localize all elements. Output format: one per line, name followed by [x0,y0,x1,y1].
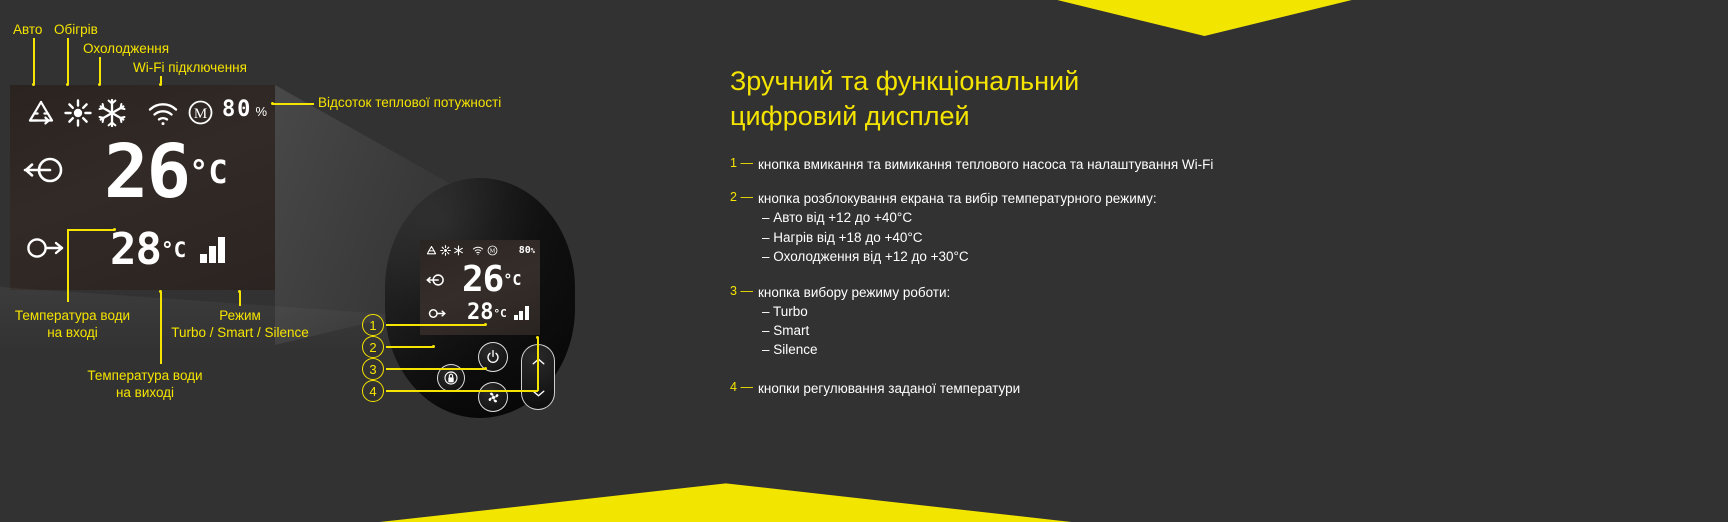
outlet-temp-unit: °C [161,238,186,262]
device-inlet-row: 26 °C [424,262,536,298]
legend-subitem: – Охолодження від +12 до +30°C [762,247,1430,266]
percent-number: 80 [222,97,253,122]
legend-subitem: – Нагрів від +18 до +40°C [762,228,1430,247]
callout-label-mode-line2: Turbo / Smart / Silence [165,325,315,342]
device-fan-bars-icon [514,306,529,320]
leader-line-auto [33,38,35,84]
callout-label-outlet-temp: Температура води на виході [80,368,210,402]
inlet-temperature-row: 26 °C [16,129,271,215]
device-lcd-display: M 80% 26 °C 28 °C [420,240,540,335]
leader-line-inlet-h [67,229,115,231]
leader-line-4v [537,338,539,391]
m-mode-icon: M [187,99,214,131]
inlet-temp-value: 26 [104,135,189,209]
leader-dot-cool [98,83,101,86]
callout-number-1: 1 [362,314,384,336]
wifi-icon-small [472,245,484,256]
chevron-decoration-top [910,0,1728,36]
leader-dot-4 [536,336,539,339]
leader-dot-heat [66,83,69,86]
legend-number: 4 — [730,380,758,394]
inlet-temp-unit: °C [189,153,228,191]
legend-subitem: – Авто від +12 до +40°C [762,208,1430,227]
callout-label-wifi: Wi-Fi підключення [133,60,247,77]
power-icon [485,349,501,365]
cool-snowflake-icon [97,98,127,133]
callout-label-percent: Відсоток теплової потужності [318,95,501,112]
cool-snowflake-icon-small [453,245,464,256]
auto-recycle-icon-small [426,245,437,256]
leader-dot-2 [432,345,435,348]
water-outlet-icon [26,232,66,269]
list-item: 1 — кнопка вмикання та вимикання теплово… [730,156,1430,174]
fan-mode-bars-icon [200,237,225,263]
legend-number: 2 — [730,190,758,204]
legend-text: кнопка розблокування екрана та вибір тем… [758,190,1157,208]
callout-label-outlet-temp-line2: на виході [80,385,210,402]
leader-line-3 [386,368,486,370]
page-title-line1: Зручний та функціональний [730,64,1350,99]
legend-list: 1 — кнопка вмикання та вимикання теплово… [730,156,1430,414]
leader-dot-inlet [113,228,116,231]
device-status-icons: M 80% [426,245,535,256]
controller-device: M 80% 26 °C 28 °C [385,178,575,418]
leader-dot-outlet [159,290,162,293]
device-outlet-row: 28 °C [424,302,536,324]
outlet-temperature-row: 28 °C [16,219,271,281]
list-item: 4 — кнопки регулювання заданої температу… [730,380,1430,398]
legend-subitem: – Turbo [762,302,1430,321]
leader-line-mode [239,292,241,306]
legend-text: кнопки регулювання заданої температури [758,380,1020,398]
lock-icon [443,370,459,386]
device-inlet-temp-value: 26 [462,262,503,298]
callout-number-3: 3 [362,358,384,380]
fan-button[interactable] [478,382,508,412]
leader-dot-mode [238,290,241,293]
callout-label-auto: Авто [13,22,42,39]
legend-number: 1 — [730,156,758,170]
callout-label-cool: Охолодження [83,41,169,58]
leader-line-cool [99,57,101,84]
heat-power-percent-value: 80 % [222,97,267,122]
m-mode-icon-small: M [487,245,498,256]
page-root: M 80 % 26 °C 28 [0,0,1728,522]
callout-label-heat: Обігрів [54,22,98,39]
leader-line-4h [386,390,538,392]
page-title: Зручний та функціональний цифровий диспл… [730,64,1350,134]
list-item: 2 — кнопка розблокування екрана та вибір… [730,190,1430,266]
legend-number: 3 — [730,284,758,298]
water-inlet-icon-small [424,271,446,289]
leader-dot-1 [484,323,487,326]
callout-label-inlet-temp: Температура води на вході [10,308,135,342]
callout-number-4: 4 [362,380,384,402]
device-outlet-temp-unit: °C [494,307,507,320]
legend-subitem: – Silence [762,340,1430,359]
wifi-icon [147,99,179,132]
chevron-decoration-bottom [0,480,1728,522]
legend-text: кнопка вибору режиму роботи: [758,284,950,302]
legend-subitem: – Smart [762,321,1430,340]
callout-label-inlet-temp-line2: на вході [10,325,135,342]
leader-line-2 [386,346,434,348]
callout-label-mode: Режим Turbo / Smart / Silence [165,308,315,342]
outlet-temp-value: 28 [110,228,161,272]
water-outlet-icon-small [428,306,447,321]
leader-dot-auto [32,83,35,86]
device-outlet-temp-value: 28 [467,302,494,324]
device-inlet-temp-unit: °C [503,271,521,289]
heat-sun-icon [63,98,93,133]
heat-sun-icon-small [440,245,451,256]
lcd-display-enlarged: M 80 % 26 °C 28 [10,85,275,290]
list-item: 3 — кнопка вибору режиму роботи: – Turbo… [730,284,1430,360]
leader-line-inlet-v [67,230,69,302]
leader-dot-percent [271,102,274,105]
auto-recycle-icon [24,98,58,133]
page-title-line2: цифровий дисплей [730,99,1350,134]
svg-text:M: M [194,106,207,122]
svg-text:M: M [490,249,496,255]
leader-dot-wifi [159,83,162,86]
percent-symbol: % [255,104,267,119]
leader-line-heat [67,38,69,84]
water-inlet-icon [20,150,66,195]
callout-label-inlet-temp-line1: Температура води [10,308,135,325]
callout-label-mode-line1: Режим [165,308,315,325]
callout-label-outlet-temp-line1: Температура води [80,368,210,385]
leader-line-1 [386,324,486,326]
callout-number-2: 2 [362,336,384,358]
leader-dot-3 [484,367,487,370]
device-percent-value: 80% [519,245,535,256]
leader-line-percent [272,103,314,105]
leader-line-outlet [160,292,162,364]
legend-text: кнопка вмикання та вимикання теплового н… [758,156,1213,174]
